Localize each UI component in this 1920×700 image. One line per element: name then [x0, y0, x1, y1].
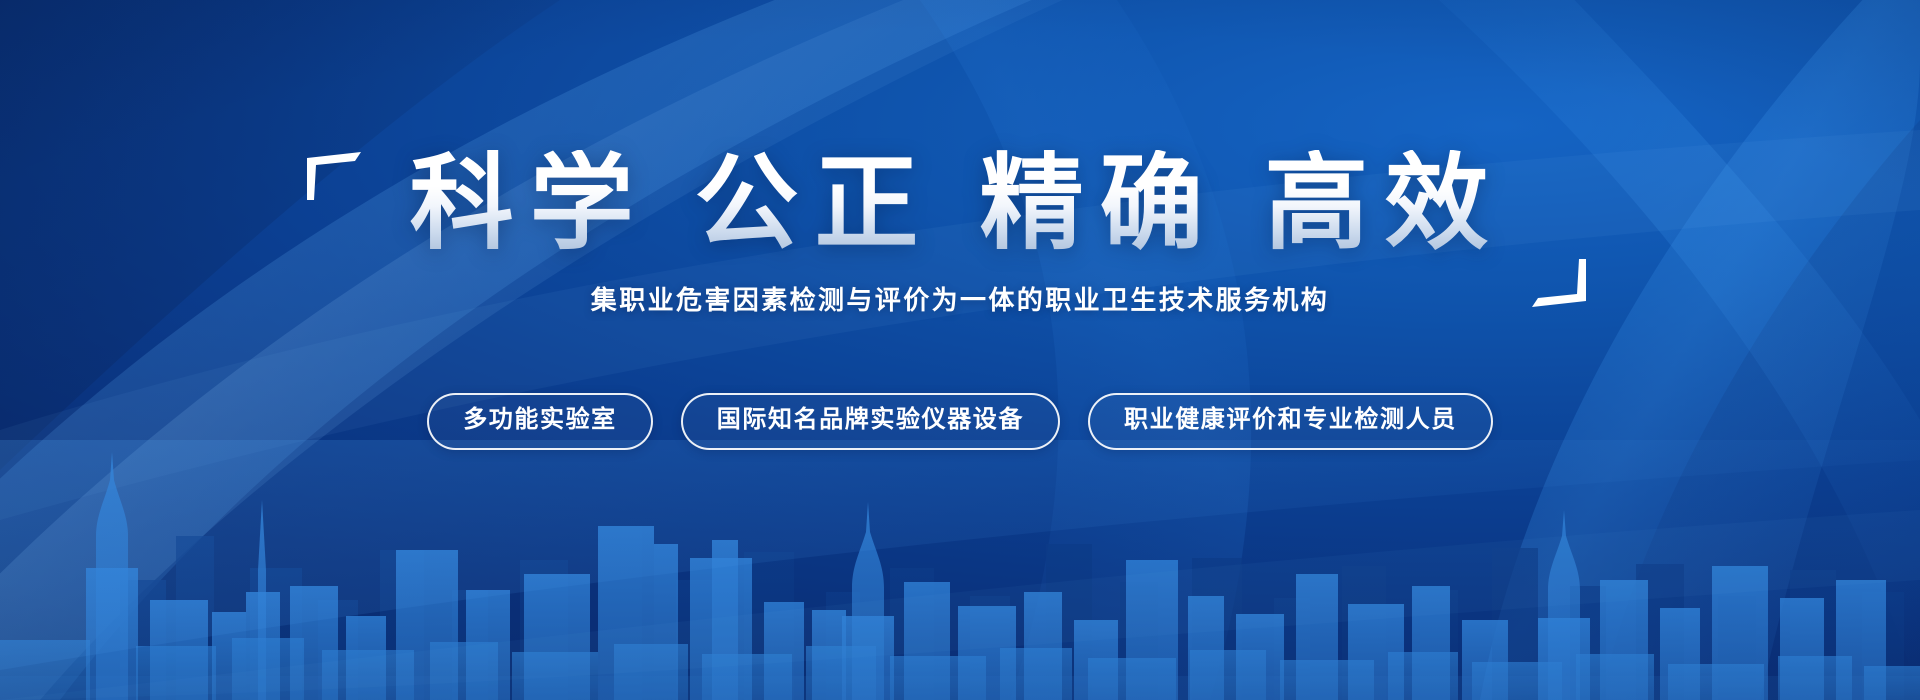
- quote-bracket-close-icon: [1530, 257, 1588, 309]
- feature-pill-list: 多功能实验室 国际知名品牌实验仪器设备 职业健康评价和专业检测人员: [427, 393, 1493, 449]
- feature-pill-equipment[interactable]: 国际知名品牌实验仪器设备: [681, 393, 1060, 449]
- hero-banner: 科学 公正 精确 高效 集职业危害因素检测与评价为一体的职业卫生技术服务机构 多…: [0, 0, 1920, 700]
- headline-block: 科学 公正 精确 高效: [310, 150, 1610, 258]
- feature-pill-personnel[interactable]: 职业健康评价和专业检测人员: [1088, 393, 1493, 449]
- banner-headline: 科学 公正 精确 高效: [380, 150, 1541, 258]
- banner-subtitle: 集职业危害因素检测与评价为一体的职业卫生技术服务机构: [591, 280, 1329, 317]
- quote-bracket-open-icon: [305, 150, 363, 202]
- banner-content: 科学 公正 精确 高效 集职业危害因素检测与评价为一体的职业卫生技术服务机构 多…: [0, 0, 1920, 700]
- feature-pill-lab[interactable]: 多功能实验室: [427, 393, 653, 449]
